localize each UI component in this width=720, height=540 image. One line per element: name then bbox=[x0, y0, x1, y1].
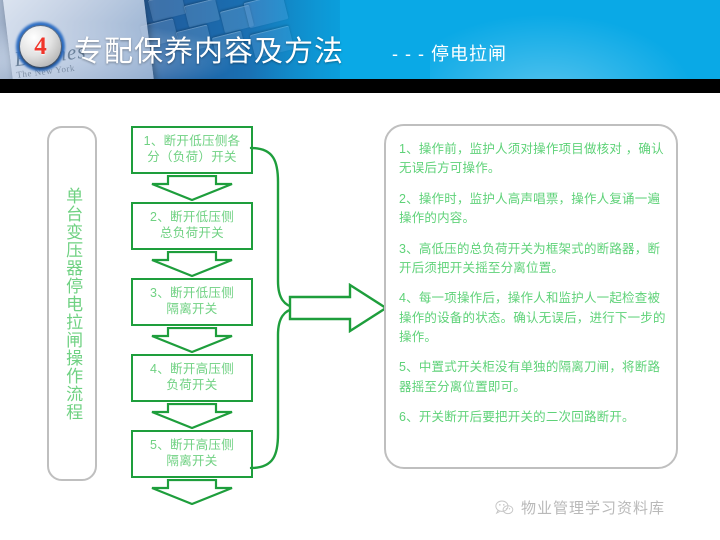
flow-arrow-1-to-2 bbox=[151, 175, 233, 201]
flow-step-1-line1: 1、断开低压侧各 bbox=[142, 134, 243, 150]
flow-arrow-3-to-4 bbox=[151, 327, 233, 353]
flow-step-3-line2: 隔离开关 bbox=[148, 302, 236, 318]
flow-step-box-4[interactable]: 4、断开高压侧 负荷开关 bbox=[131, 354, 253, 402]
watermark: 物业管理学习资料库 bbox=[495, 497, 665, 518]
page-subtitle: - - - 停电拉闸 bbox=[392, 40, 507, 66]
process-title-text: 单台变压器停电拉闸操作流程 bbox=[63, 187, 81, 421]
flow-arrow-2-to-3 bbox=[151, 251, 233, 277]
badge-number-label: 4 bbox=[20, 26, 61, 67]
notes-panel: 1、操作前，监护人须对操作项目做核对 ，确认无误后方可操作。 2、操作时，监护人… bbox=[384, 124, 678, 469]
flow-arrow-4-to-5 bbox=[151, 403, 233, 429]
flow-step-2-line2: 总负荷开关 bbox=[148, 226, 236, 242]
flow-step-box-1[interactable]: 1、断开低压侧各 分（负荷）开关 bbox=[131, 126, 253, 174]
watermark-text: 物业管理学习资料库 bbox=[521, 497, 665, 518]
note-item-4: 4、每一项操作后，操作人和监护人一起检查被操作的设备的状态。确认无误后，进行下一… bbox=[399, 289, 669, 347]
flow-step-4-line1: 4、断开高压侧 bbox=[148, 362, 236, 378]
flow-step-1-line2: 分（负荷）开关 bbox=[142, 150, 243, 166]
flow-step-3-line1: 3、断开低压侧 bbox=[148, 286, 236, 302]
process-title-panel: 单台变压器停电拉闸操作流程 bbox=[47, 126, 97, 481]
flow-step-box-3[interactable]: 3、断开低压侧 隔离开关 bbox=[131, 278, 253, 326]
flow-to-notes-arrow bbox=[288, 283, 388, 333]
note-item-6: 6、开关断开后要把开关的二次回路断开。 bbox=[399, 408, 669, 427]
flow-step-box-2[interactable]: 2、断开低压侧 总负荷开关 bbox=[131, 202, 253, 250]
slide-canvas: Busines The New York 4 专配保养内容及方法 - - - 停… bbox=[0, 0, 720, 540]
flow-steps-column: 1、断开低压侧各 分（负荷）开关 2、断开低压侧 总负荷开关 3、断开低压侧 隔… bbox=[131, 126, 253, 491]
note-item-5: 5、中置式开关柜没有单独的隔离刀闸，将断路器摇至分离位置即可。 bbox=[399, 358, 669, 397]
note-item-3: 3、高低压的总负荷开关为框架式的断路器，断开后须把开关摇至分离位置。 bbox=[399, 240, 669, 279]
flow-arrow-end bbox=[151, 479, 233, 505]
page-title: 专配保养内容及方法 bbox=[74, 28, 344, 70]
wechat-icon bbox=[495, 500, 514, 515]
section-number-badge: 4 bbox=[16, 28, 65, 71]
note-item-1: 1、操作前，监护人须对操作项目做核对 ，确认无误后方可操作。 bbox=[399, 140, 669, 179]
note-item-2: 2、操作时，监护人高声唱票，操作人复诵一遍操作的内容。 bbox=[399, 190, 669, 229]
flow-step-2-line1: 2、断开低压侧 bbox=[148, 210, 236, 226]
slide-header: Busines The New York 4 专配保养内容及方法 - - - 停… bbox=[0, 0, 720, 79]
flow-step-5-line1: 5、断开高压侧 bbox=[148, 438, 236, 454]
header-divider-bar bbox=[0, 79, 720, 93]
flow-step-box-5[interactable]: 5、断开高压侧 隔离开关 bbox=[131, 430, 253, 478]
notes-list: 1、操作前，监护人须对操作项目做核对 ，确认无误后方可操作。 2、操作时，监护人… bbox=[399, 140, 669, 428]
flow-step-5-line2: 隔离开关 bbox=[148, 454, 236, 470]
flow-step-4-line2: 负荷开关 bbox=[148, 378, 236, 394]
